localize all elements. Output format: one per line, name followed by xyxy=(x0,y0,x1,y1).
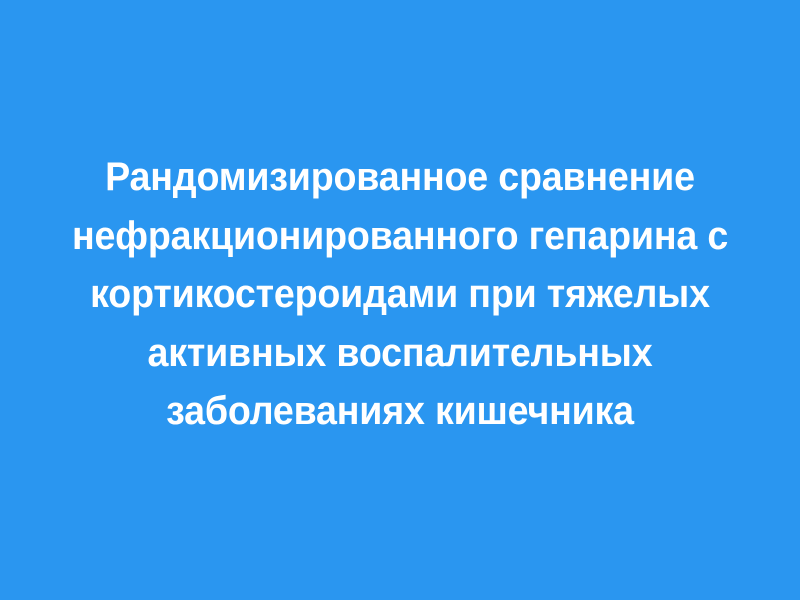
title-line-5: заболеваниях кишечника xyxy=(43,382,757,441)
title-line-2: нефракционированного гепарина с xyxy=(43,207,757,266)
title-line-1: Рандомизированное сравнение xyxy=(43,148,757,207)
title-slide: Рандомизированное сравнение нефракционир… xyxy=(0,0,800,600)
title-line-4: активных воспалительных xyxy=(43,324,757,383)
title-line-3: кортикостероидами при тяжелых xyxy=(43,265,757,324)
page-title: Рандомизированное сравнение нефракционир… xyxy=(20,0,780,441)
